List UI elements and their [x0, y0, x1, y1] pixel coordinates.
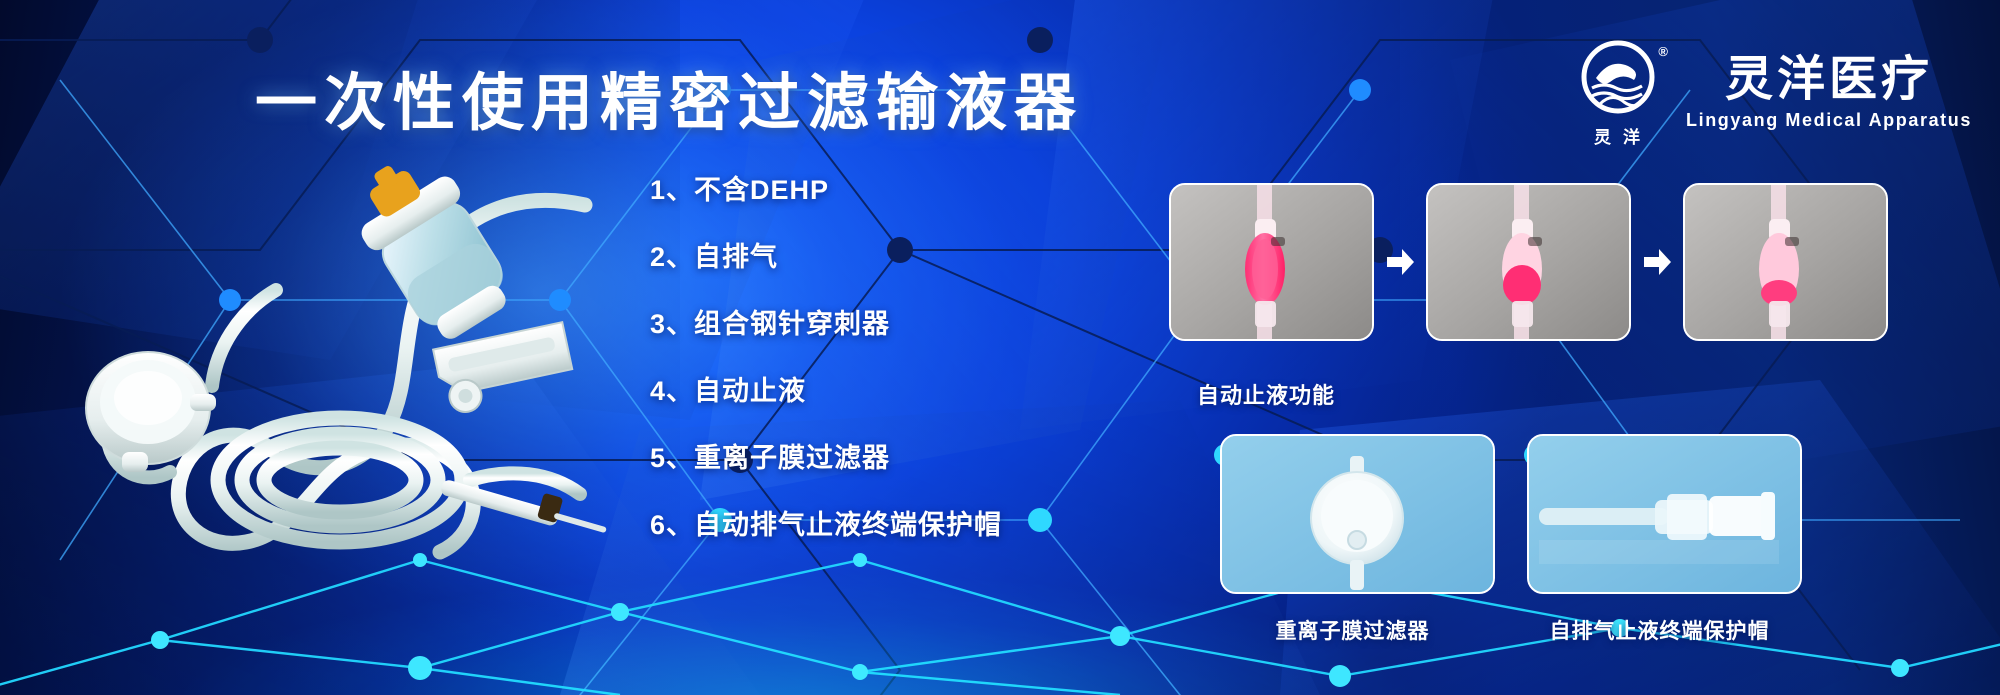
filter-photo: [1222, 436, 1495, 594]
banner-root: 一次性使用精密过滤输液器 ® 灵洋 灵洋医疗 Lingyang Medical …: [0, 0, 2000, 695]
component-panel-row: [1220, 434, 1802, 594]
brand-name-cn: 灵洋医疗: [1725, 56, 1933, 104]
logo-mark: ® 灵洋: [1570, 38, 1666, 148]
protective-cap-caption: 自排气止液终端保护帽: [1522, 615, 1797, 645]
sequence-arrow-1: [1374, 245, 1426, 279]
feature-item-4: 4、自动止液: [650, 369, 1002, 408]
page-title: 一次性使用精密过滤输液器: [255, 52, 1083, 142]
sequence-shot-3: [1683, 183, 1888, 341]
protective-cap-panel: [1527, 434, 1802, 594]
feature-item-2: 2、自排气: [650, 235, 1002, 274]
sequence-arrow-2: [1631, 245, 1683, 279]
feature-item-3: 3、组合钢针穿刺器: [650, 302, 1002, 341]
logo-emblem-icon: [1570, 38, 1666, 116]
drip-chamber: [337, 150, 525, 351]
feature-item-6: 6、自动排气止液终端保护帽: [650, 503, 1002, 542]
filter-panel: [1220, 434, 1495, 594]
sequence-shot-2: [1426, 183, 1631, 341]
product-illustration: [40, 150, 660, 570]
brand-name-en: Lingyang Medical Apparatus: [1686, 110, 1972, 131]
registered-trademark-icon: ®: [1658, 44, 1668, 59]
logo-mark-subtext: 灵洋: [1570, 123, 1666, 148]
brand-logo: ® 灵洋 灵洋医疗 Lingyang Medical Apparatus: [1570, 38, 1972, 148]
stop-valve-photo-1: [1171, 185, 1374, 341]
feature-item-1: 1、不含DEHP: [650, 168, 1002, 207]
auto-stop-sequence-row: [1169, 183, 1888, 341]
stop-valve-photo-2: [1428, 185, 1631, 341]
feature-item-5: 5、重离子膜过滤器: [650, 436, 1002, 475]
auto-stop-caption: 自动止液功能: [1197, 378, 1335, 410]
component-caption-row: 重离子膜过滤器 自排气止液终端保护帽: [1220, 615, 1804, 645]
filter-caption: 重离子膜过滤器: [1215, 615, 1490, 645]
arrow-right-icon: [1383, 245, 1417, 279]
feature-list: 1、不含DEHP 2、自排气 3、组合钢针穿刺器 4、自动止液 5、重离子膜过滤…: [650, 168, 1002, 542]
protective-cap-photo: [1529, 436, 1802, 594]
stop-valve-photo-3: [1685, 185, 1888, 341]
sequence-shot-1: [1169, 183, 1374, 341]
arrow-right-icon: [1640, 245, 1674, 279]
logo-wordmark: 灵洋医疗 Lingyang Medical Apparatus: [1686, 56, 1972, 131]
